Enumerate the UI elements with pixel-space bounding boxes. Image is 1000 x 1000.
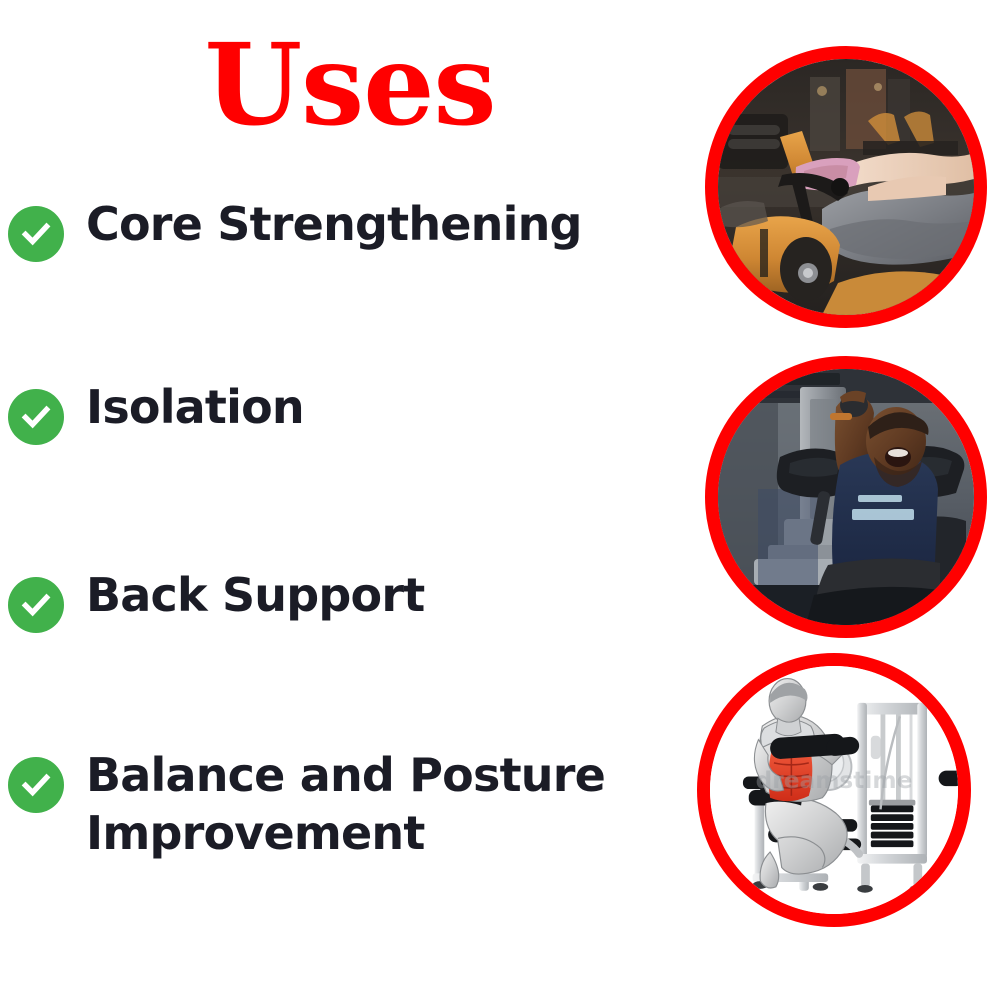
page-title: Uses — [0, 30, 700, 142]
list-item-label: Isolation — [86, 379, 304, 437]
check-circle-icon — [8, 757, 64, 813]
list-item-label: Core Strengthening — [86, 196, 582, 254]
photo-leg-machine — [705, 46, 987, 328]
list-item-label: Balance and Posture Improvement — [86, 747, 616, 862]
photo-leg-machine-image — [718, 59, 974, 315]
list-item: Isolation — [0, 379, 304, 445]
list-item: Core Strengthening — [0, 196, 582, 262]
poster-canvas: Uses Core Strengthening Isolation — [0, 0, 1000, 1000]
photo-ab-crunch-illustration: dreamstime — [697, 653, 971, 927]
list-item: Back Support — [0, 567, 424, 633]
list-item: Balance and Posture Improvement — [0, 747, 616, 862]
photo-ab-crunch-image: dreamstime — [710, 666, 958, 914]
list-item-label: Back Support — [86, 567, 424, 625]
photo-rear-delt-machine — [705, 356, 987, 638]
check-circle-icon — [8, 577, 64, 633]
watermark-text: dreamstime — [756, 767, 913, 794]
check-circle-icon — [8, 389, 64, 445]
photo-rear-delt-machine-image — [718, 369, 974, 625]
check-circle-icon — [8, 206, 64, 262]
